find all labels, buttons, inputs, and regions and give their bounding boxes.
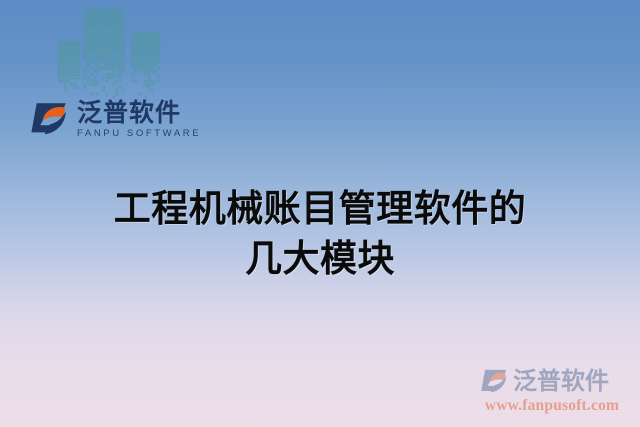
page-title: 工程机械账目管理软件的 几大模块 xyxy=(0,184,640,284)
brand-name-cn: 泛普软件 xyxy=(77,99,201,127)
pixel-city-skyline-decoration xyxy=(58,0,170,98)
fanpu-hexagon-mark-icon xyxy=(27,98,71,142)
watermark: 泛普软件 www.fanpusoft.com xyxy=(472,366,632,415)
watermark-logo-row: 泛普软件 xyxy=(472,366,632,398)
title-line-2: 几大模块 xyxy=(0,234,640,284)
brand-wordmark: 泛普软件 FANPU SOFTWARE xyxy=(77,98,201,140)
slide-canvas: 泛普软件 FANPU SOFTWARE 工程机械账目管理软件的 几大模块 泛普软… xyxy=(0,0,640,427)
brand-name-en: FANPU SOFTWARE xyxy=(77,128,201,140)
watermark-brand-name: 泛普软件 xyxy=(513,369,609,395)
fanpu-hexagon-mark-faded-icon xyxy=(478,366,510,398)
watermark-url: www.fanpusoft.com xyxy=(472,397,632,415)
brand-logo: 泛普软件 FANPU SOFTWARE xyxy=(27,98,201,142)
title-line-1: 工程机械账目管理软件的 xyxy=(0,184,640,234)
